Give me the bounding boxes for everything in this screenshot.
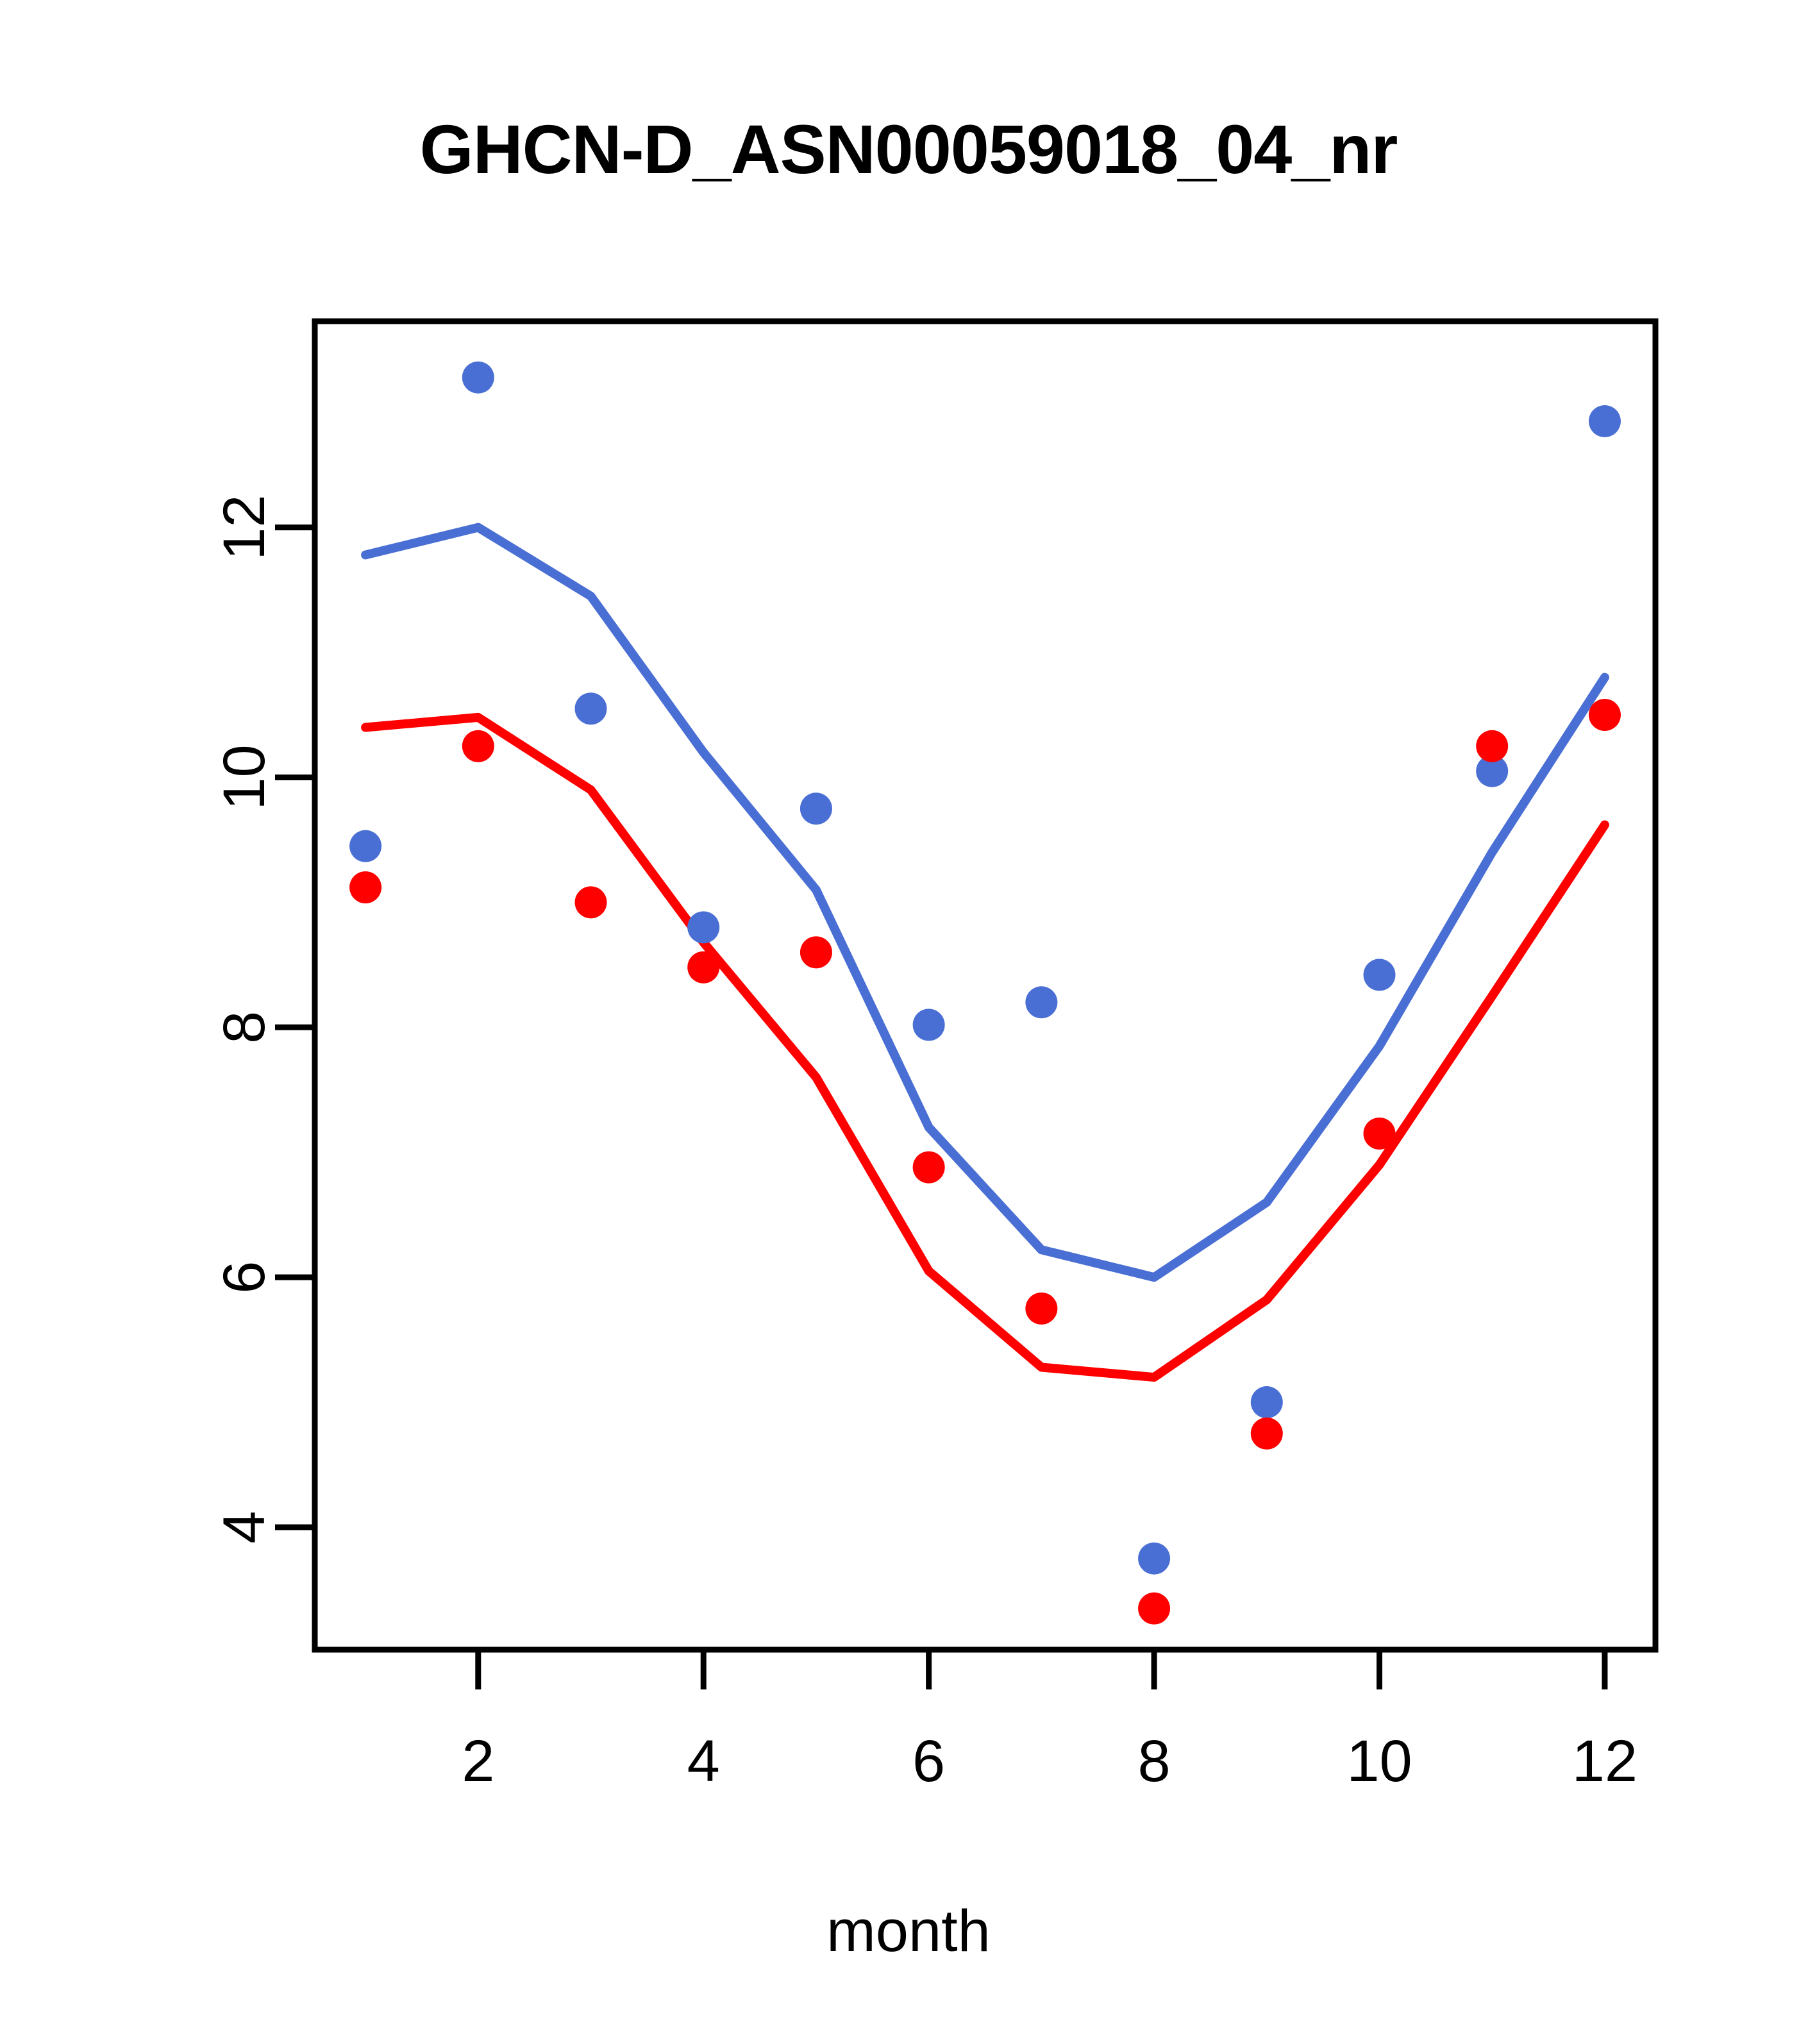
y-axis-tick-label: 6 (212, 1261, 277, 1294)
data-point-red-points (462, 730, 494, 762)
series-line-blue-line (365, 528, 1605, 1278)
data-point-blue-points (800, 792, 832, 825)
y-axis-tick-label: 12 (212, 494, 277, 560)
chart-canvas: 246810124681012 (0, 0, 1817, 2044)
data-point-blue-points (1589, 405, 1621, 437)
x-axis-tick-label: 4 (687, 1729, 720, 1794)
data-point-red-points (1476, 730, 1508, 762)
plot-frame (315, 321, 1655, 1650)
axis-ticks (275, 528, 1605, 1689)
data-point-blue-points (1251, 1386, 1283, 1418)
x-axis-tick-label: 12 (1572, 1729, 1637, 1794)
y-axis-tick-label: 10 (212, 744, 277, 810)
data-point-blue-points (1138, 1543, 1170, 1575)
data-point-red-points (800, 936, 832, 968)
plot-box (315, 321, 1655, 1650)
data-point-blue-points (1364, 959, 1396, 991)
x-axis-tick-label: 8 (1137, 1729, 1170, 1794)
x-axis-tick-label: 10 (1346, 1729, 1412, 1794)
data-point-red-points (575, 886, 607, 918)
series-lines (365, 528, 1605, 1377)
data-point-blue-points (462, 362, 494, 394)
data-point-blue-points (913, 1009, 945, 1041)
data-point-red-points (1364, 1118, 1396, 1150)
y-axis-tick-label: 8 (212, 1011, 277, 1044)
data-point-red-points (349, 871, 381, 903)
data-point-red-points (913, 1152, 945, 1184)
data-point-blue-points (687, 911, 719, 943)
chart-page: GHCN-D_ASN00059018_04_nr 246810124681012… (0, 0, 1817, 2044)
data-point-red-points (1138, 1593, 1170, 1625)
x-axis-label: month (0, 1898, 1817, 1965)
series-line-red-line (365, 717, 1605, 1377)
series-points (349, 362, 1621, 1625)
y-axis-tick-label: 4 (212, 1511, 277, 1543)
data-point-blue-points (1025, 986, 1057, 1018)
axis-tick-labels: 246810124681012 (212, 494, 1637, 1794)
data-point-red-points (1251, 1418, 1283, 1450)
x-axis-tick-label: 2 (462, 1729, 494, 1794)
data-point-blue-points (575, 692, 607, 725)
x-axis-tick-label: 6 (912, 1729, 945, 1794)
data-point-red-points (1589, 699, 1621, 731)
data-point-red-points (1025, 1293, 1057, 1325)
data-point-red-points (687, 951, 719, 984)
data-point-blue-points (349, 830, 381, 862)
